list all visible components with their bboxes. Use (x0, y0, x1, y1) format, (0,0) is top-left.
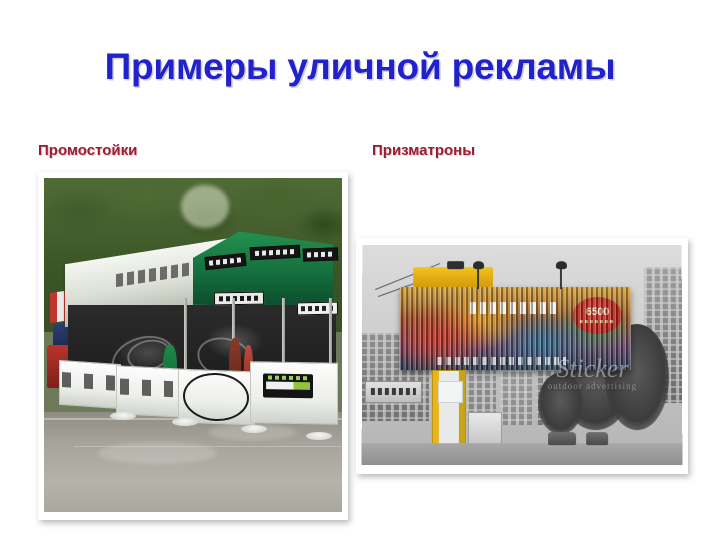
puddle-1 (98, 442, 217, 464)
prismatron-photo: 6500 Sticker outdoor advertising (356, 238, 688, 474)
promo-stands-image (44, 178, 342, 512)
barrier-logo-strip-2 (119, 378, 179, 397)
barrier-foot-3 (241, 425, 267, 433)
billboard-service-box (413, 267, 493, 287)
canopy-banner-3 (303, 248, 338, 263)
billboard-lamp-2 (560, 267, 562, 289)
prismatron-image: 6500 Sticker outdoor advertising (362, 245, 683, 465)
barrier-foot-4 (306, 432, 332, 440)
car-2 (586, 432, 608, 445)
prism-slats (400, 287, 630, 371)
street-sign (365, 381, 421, 403)
promo-stands-photo (38, 172, 348, 520)
barrier-foot-1 (110, 412, 136, 420)
newfren-logo (263, 373, 313, 398)
barrier-logo-strip-1 (62, 372, 117, 391)
section-caption-promostands: Промостойки (38, 142, 137, 159)
barrier-panel-2 (116, 365, 184, 417)
page-title: Примеры уличной рекламы (0, 46, 720, 88)
prismatron-billboard: 6500 (400, 287, 630, 371)
billboard-support-pillar (432, 370, 466, 451)
tree-3 (538, 373, 583, 435)
car-1 (548, 432, 577, 445)
road (362, 443, 683, 465)
counter-banner-1 (214, 291, 264, 305)
barrier-panel-1 (59, 360, 121, 410)
section-caption-prismatrons: Призматроны (372, 142, 475, 159)
counter-banner-2 (297, 301, 338, 315)
newfren-tagline (268, 375, 308, 379)
premier-logo (183, 372, 249, 422)
wet-pavement (44, 412, 342, 512)
barrier-panel-premier (178, 369, 255, 425)
sky-gap (181, 185, 229, 228)
barrier-panel-newfren (250, 361, 338, 425)
newfren-wordmark (266, 381, 310, 390)
billboard-lamp-1 (477, 267, 479, 289)
